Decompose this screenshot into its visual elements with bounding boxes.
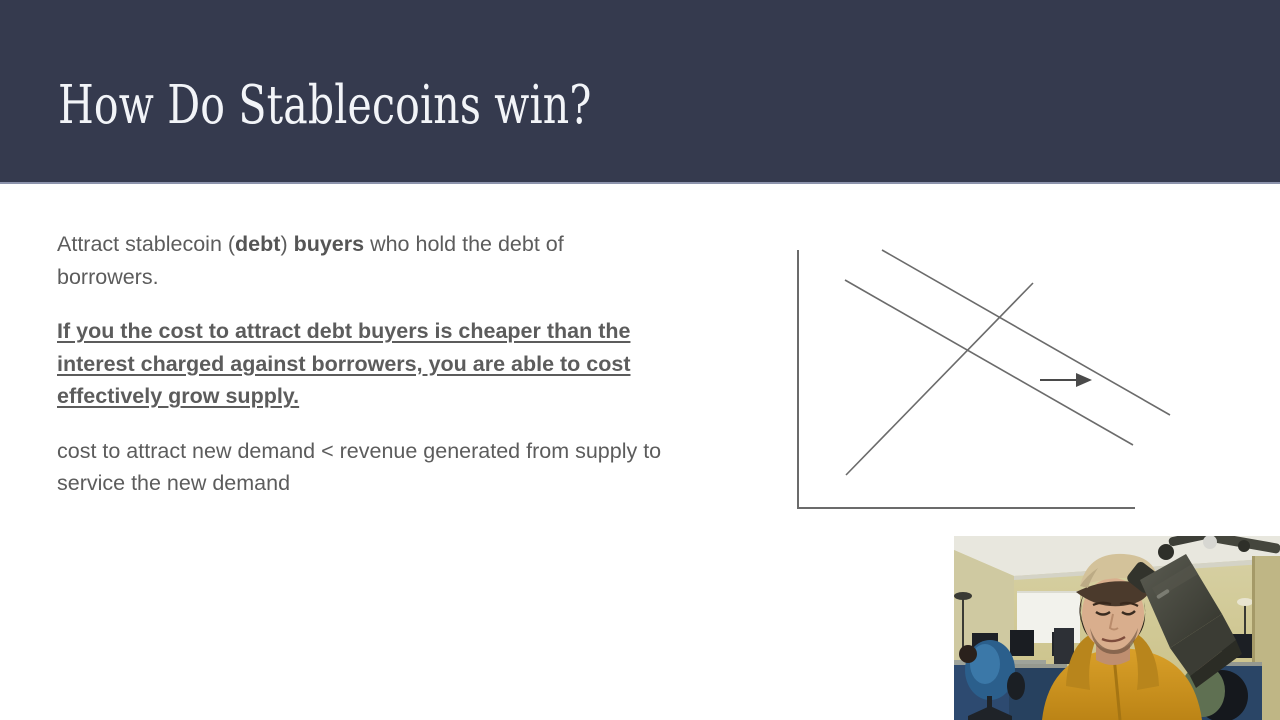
- supply-and-demand-diagram: [780, 232, 1200, 532]
- webcam-overlay[interactable]: [954, 536, 1280, 720]
- whiteboard-edge: [1017, 591, 1080, 593]
- paragraph-emphasis: If you the cost to attract debt buyers i…: [57, 315, 667, 413]
- demand-curve-shifted: [882, 250, 1170, 415]
- intro-bold-buyers: buyers: [294, 232, 365, 256]
- desk-mid-top: [1009, 664, 1067, 668]
- webcam-scene: [954, 536, 1280, 720]
- background-person-head: [959, 645, 977, 663]
- floor-lamp-shade: [954, 592, 972, 600]
- webcam-video-frame: [954, 536, 1280, 720]
- supply-demand-svg: [780, 232, 1200, 532]
- intro-bold-debt: debt: [235, 232, 280, 256]
- presentation-slide: How Do Stablecoins win? Attract stableco…: [0, 0, 1280, 720]
- paragraph-inequality: cost to attract new demand < revenue gen…: [57, 435, 667, 500]
- office-chair-arm: [1007, 672, 1025, 700]
- demand-shift-arrow-icon: [1040, 373, 1092, 387]
- supply-curve: [846, 283, 1033, 475]
- title-band-rule: [0, 182, 1280, 184]
- right-lamp-shade: [1237, 598, 1253, 606]
- page-title: How Do Stablecoins win?: [58, 76, 592, 136]
- intro-lead-text: Attract stablecoin (: [57, 232, 235, 256]
- demand-curve-original: [845, 280, 1133, 445]
- intro-mid-text: ): [280, 232, 293, 256]
- monitor-mid: [1010, 630, 1034, 656]
- slide-body-column: Attract stablecoin (debt) buyers who hol…: [57, 228, 667, 500]
- floor-lamp-pole: [962, 598, 964, 654]
- paragraph-intro: Attract stablecoin (debt) buyers who hol…: [57, 228, 667, 293]
